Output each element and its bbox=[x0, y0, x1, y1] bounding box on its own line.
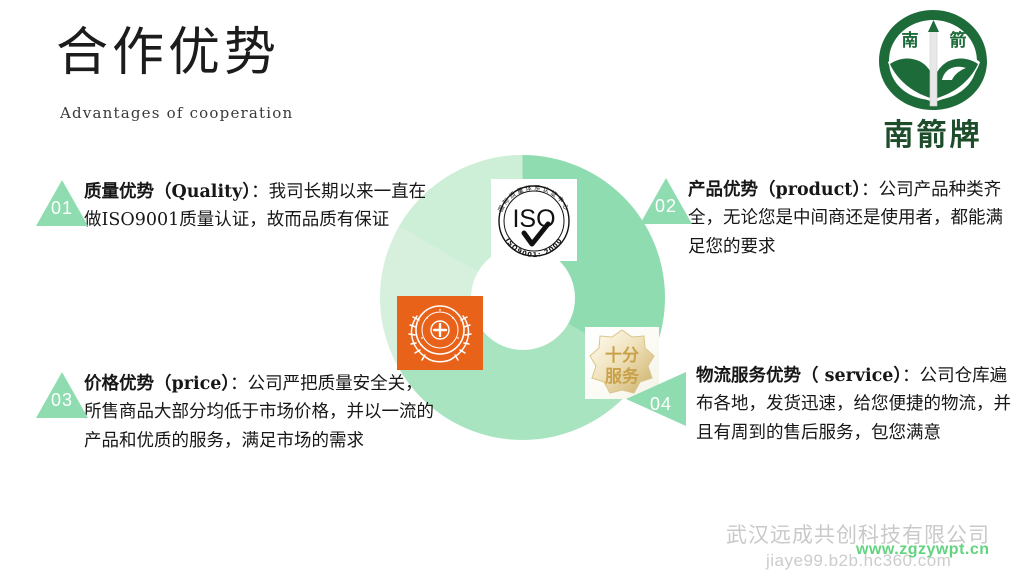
emblem-char-nan: 南 bbox=[902, 30, 919, 51]
iso-badge-icon: 国际质量体系认证中心 ISO9001: 2000 ISO bbox=[491, 179, 577, 261]
marker-number-02: 02 bbox=[640, 178, 692, 224]
advantage-lead-02: 产品优势（product） bbox=[688, 180, 861, 200]
advantage-lead-03: 价格优势（price） bbox=[84, 374, 230, 394]
emblem-char-jian: 箭 bbox=[950, 30, 967, 51]
advantage-item-01: 01 质量优势（Quality）：我司长期以来一直在做ISO9001质量认证，故… bbox=[36, 178, 440, 235]
advantage-text-02: 产品优势（product）：公司产品种类齐全，无论您是中间商还是使用者，都能满足… bbox=[688, 176, 1020, 261]
donut-center-hole bbox=[471, 246, 575, 350]
watermark-site: www.zgzywpt.cn bbox=[856, 541, 990, 559]
advantage-text-01: 质量优势（Quality）：我司长期以来一直在做ISO9001质量认证，故而品质… bbox=[84, 178, 440, 235]
page-title: 合作优势 bbox=[56, 22, 280, 84]
iso-main-label: ISO bbox=[512, 205, 555, 233]
slide-root: 合作优势 Advantages of cooperation 南 箭 南箭牌 bbox=[0, 0, 1024, 576]
advantage-lead-01: 质量优势（Quality） bbox=[84, 182, 251, 202]
advantage-lead-04: 物流服务优势（ service） bbox=[696, 366, 902, 386]
page-subtitle: Advantages of cooperation bbox=[60, 104, 293, 122]
advantage-item-02: 02 产品优势（product）：公司产品种类齐全，无论您是中间商还是使用者，都… bbox=[640, 176, 1020, 261]
advantage-text-03: 价格优势（price）：公司严把质量安全关，所售商品大部分均低于市场价格，并以一… bbox=[84, 370, 440, 455]
iso-certification-badge: 国际质量体系认证中心 ISO9001: 2000 ISO bbox=[491, 179, 577, 261]
brand-logo: 南 箭 南箭牌 bbox=[860, 6, 1006, 158]
advantage-text-04: 物流服务优势（ service）：公司仓库遍布各地，发货迅速，给您便捷的物流，并… bbox=[696, 362, 1024, 447]
marker-number-01: 01 bbox=[36, 180, 88, 226]
advantage-item-03: 03 价格优势（price）：公司严把质量安全关，所售商品大部分均低于市场价格，… bbox=[36, 370, 440, 455]
marker-number-04: 04 bbox=[626, 372, 686, 426]
advantage-sep-01: ： bbox=[251, 182, 269, 202]
advantage-sep-04: ： bbox=[902, 366, 920, 386]
nanjian-emblem-icon: 南 箭 bbox=[868, 6, 998, 114]
advantage-sep-03: ： bbox=[230, 374, 248, 394]
advantage-item-04: 04 物流服务优势（ service）：公司仓库遍布各地，发货迅速，给您便捷的物… bbox=[626, 362, 1024, 447]
marker-number-03: 03 bbox=[36, 372, 88, 418]
quality-seal-badge bbox=[397, 296, 483, 370]
quality-seal-icon bbox=[397, 296, 483, 370]
brand-name: 南箭牌 bbox=[860, 110, 1006, 154]
advantage-sep-02: ： bbox=[861, 180, 879, 200]
